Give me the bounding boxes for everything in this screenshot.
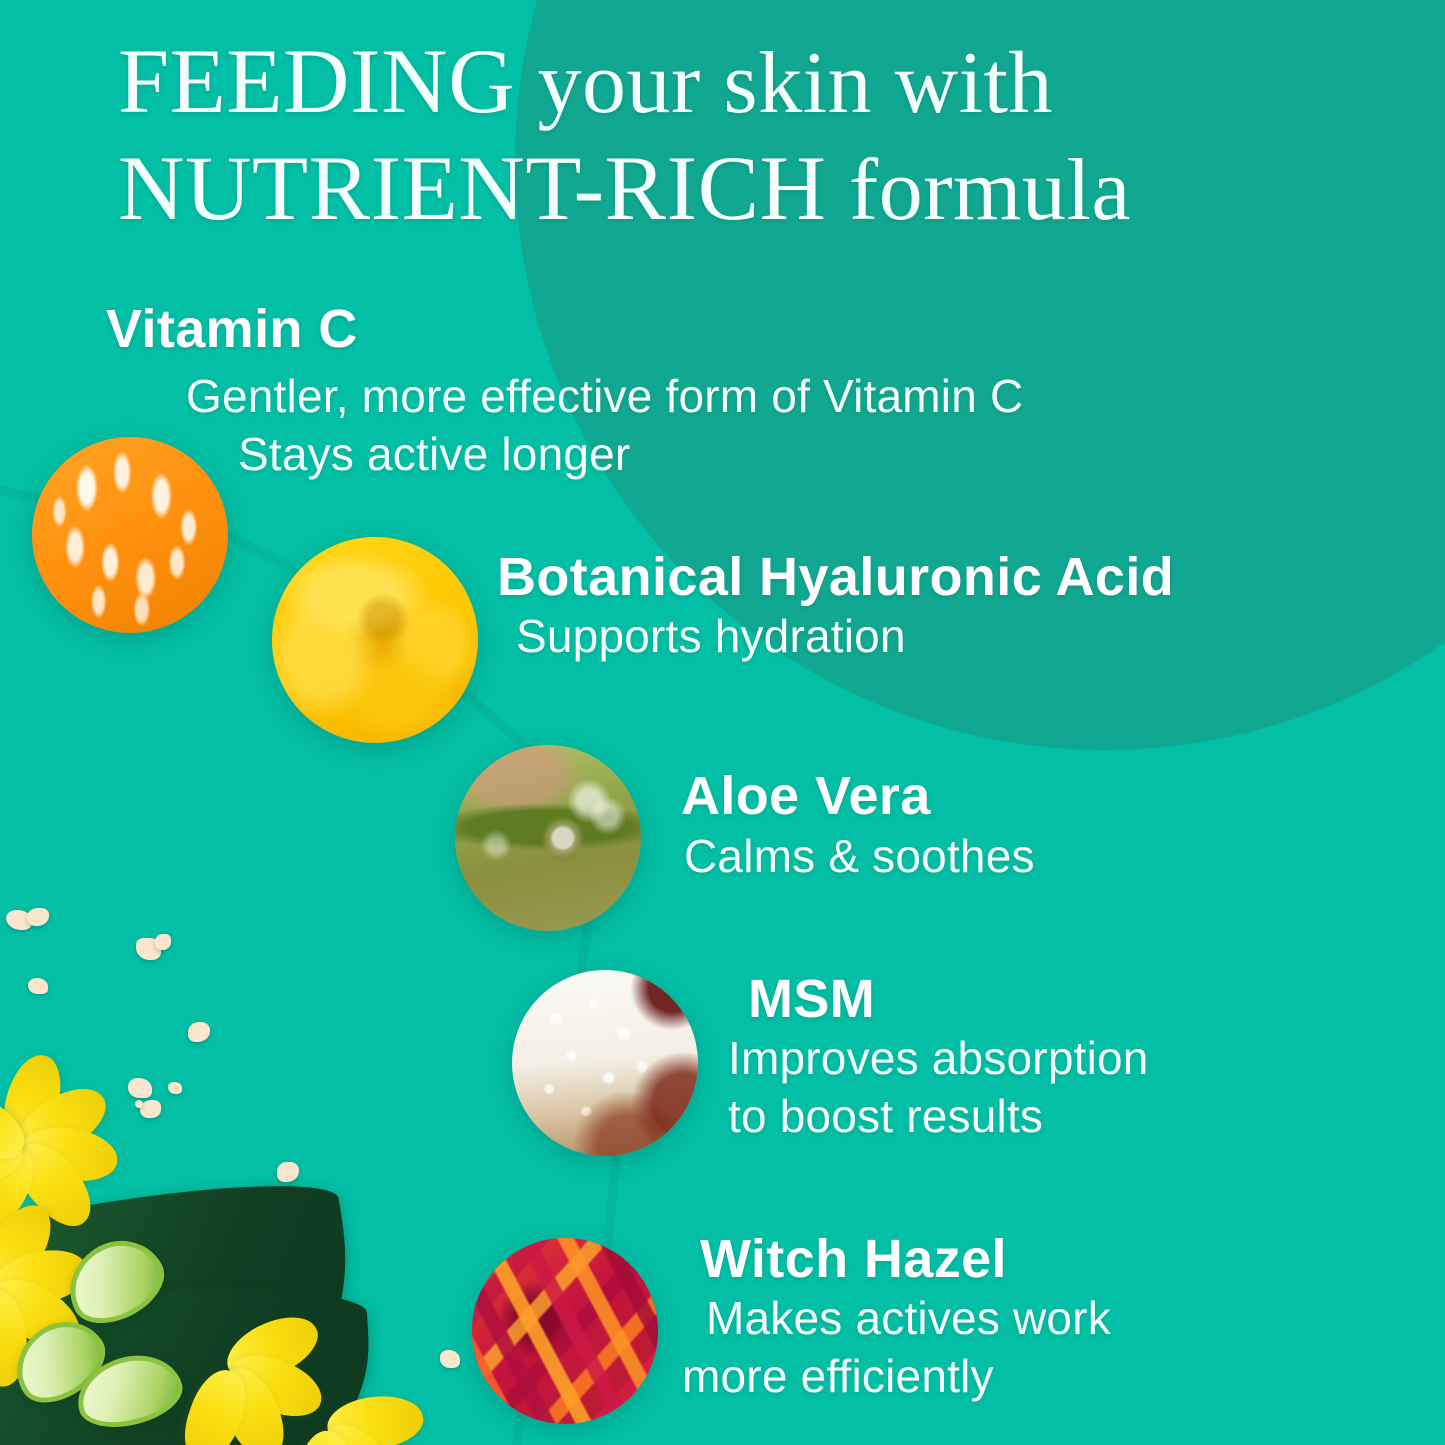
crystal-flake — [155, 934, 171, 950]
headline-line2-rest: formula — [826, 142, 1131, 239]
ingredient-desc-aloe-vera: Calms & soothes — [684, 828, 1035, 886]
page-title: FEEDING your skin with NUTRIENT-RICH for… — [118, 28, 1378, 242]
ingredient-desc-aloe-vera-line1: Calms & soothes — [684, 828, 1035, 886]
ingredient-desc-witch-hazel-line1: Makes actives work — [706, 1290, 1111, 1348]
ingredient-title-hyaluronic-acid: Botanical Hyaluronic Acid — [497, 546, 1174, 608]
ingredient-image-aloe — [455, 745, 641, 931]
ingredient-desc-vitamin-c-line1: Gentler, more effective form of Vitamin … — [186, 368, 1023, 426]
ingredient-image-yellow-flower — [272, 537, 478, 743]
ingredient-desc-witch-hazel: Makes actives work more efficiently — [706, 1290, 1111, 1406]
ingredient-title-msm: MSM — [748, 968, 875, 1030]
msm-crystals-image — [512, 970, 698, 1156]
botanical-decoration — [0, 1075, 450, 1445]
aloe-leaf-dew-image — [455, 745, 641, 931]
headline-line-1: FEEDING your skin with — [118, 28, 1378, 135]
crystal-flake — [27, 908, 49, 926]
ingredient-desc-msm: Improves absorption to boost results — [728, 1030, 1149, 1146]
ingredient-desc-msm-line1: Improves absorption — [728, 1030, 1149, 1088]
crystal-flake — [188, 1022, 210, 1042]
crystal-flake — [28, 978, 48, 994]
ingredient-image-msm — [512, 970, 698, 1156]
ingredient-desc-witch-hazel-line2: more efficiently — [682, 1348, 1111, 1406]
headline-feeding: FEEDING — [118, 30, 515, 132]
ingredient-title-vitamin-c: Vitamin C — [106, 298, 358, 360]
ingredient-desc-msm-line2: to boost results — [728, 1088, 1149, 1146]
ingredient-desc-vitamin-c-line2: Stays active longer — [238, 426, 1023, 484]
ingredient-title-aloe-vera: Aloe Vera — [681, 765, 931, 827]
ingredient-desc-vitamin-c: Gentler, more effective form of Vitamin … — [186, 368, 1023, 484]
ingredient-desc-hyaluronic-acid-line1: Supports hydration — [516, 608, 906, 666]
headline-line-2: NUTRIENT-RICH formula — [118, 135, 1378, 242]
ingredient-title-witch-hazel: Witch Hazel — [700, 1228, 1007, 1290]
ingredient-desc-hyaluronic-acid: Supports hydration — [516, 608, 906, 666]
headline-line1-rest: your skin with — [515, 35, 1053, 132]
witch-hazel-petals-image — [472, 1238, 658, 1424]
headline-nutrient-rich: NUTRIENT-RICH — [118, 137, 826, 239]
ingredient-image-witch-hazel — [472, 1238, 658, 1424]
yellow-flower-image — [272, 537, 478, 743]
infographic-canvas: FEEDING your skin with NUTRIENT-RICH for… — [0, 0, 1445, 1445]
